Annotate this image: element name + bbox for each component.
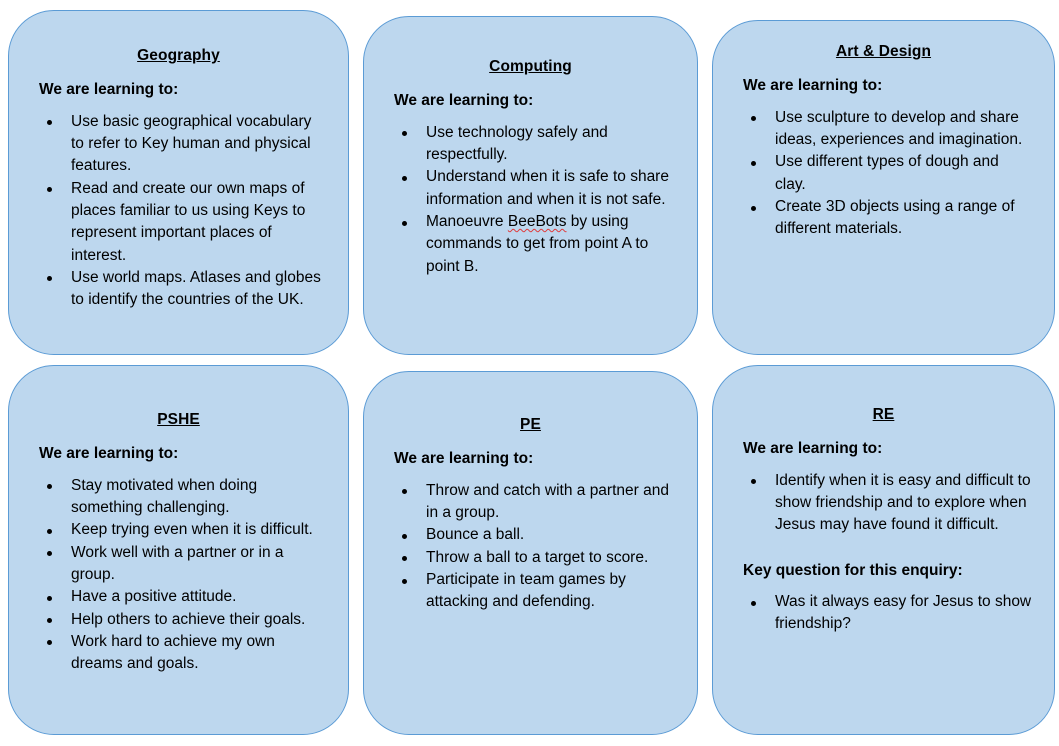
bullet-icon [402, 176, 407, 181]
bullet-icon [751, 479, 756, 484]
list-item-text: Throw a ball to a target to score. [426, 549, 648, 566]
list-item: Use basic geographical vocabulary to ref… [39, 111, 326, 178]
card-content-art-and-design: Art & Design We are learning to: Use scu… [713, 21, 1054, 241]
key-question-points-re: Was it always easy for Jesus to show fri… [735, 591, 1032, 636]
bullet-icon [402, 579, 407, 584]
bullet-icon [47, 618, 52, 623]
card-content-pe: PE We are learning to: Throw and catch w… [364, 372, 697, 614]
subject-card-pshe: PSHE We are learning to: Stay motivated … [8, 365, 349, 735]
subject-card-art-and-design: Art & Design We are learning to: Use scu… [712, 20, 1055, 355]
list-item: Bounce a ball. [394, 524, 675, 546]
card-lead-pshe: We are learning to: [31, 445, 326, 464]
list-item: Identify when it is easy and difficult t… [743, 470, 1032, 537]
list-item: Read and create our own maps of places f… [39, 178, 326, 267]
bullet-icon [402, 534, 407, 539]
card-lead-geography: We are learning to: [31, 81, 326, 100]
list-item: Throw and catch with a partner and in a … [394, 480, 675, 525]
card-content-computing: Computing We are learning to: Use techno… [364, 17, 697, 278]
bullet-icon [402, 131, 407, 136]
card-lead-computing: We are learning to: [386, 92, 675, 111]
card-content-geography: Geography We are learning to: Use basic … [9, 11, 348, 311]
bullet-icon [47, 120, 52, 125]
list-item: Throw a ball to a target to score. [394, 547, 675, 569]
card-title-pe: PE [386, 416, 675, 433]
card-lead-re: We are learning to: [735, 440, 1032, 459]
bullet-icon [47, 596, 52, 601]
card-content-pshe: PSHE We are learning to: Stay motivated … [9, 366, 348, 675]
bullet-icon [402, 556, 407, 561]
learning-points-re: Identify when it is easy and difficult t… [735, 470, 1032, 537]
list-item: Stay motivated when doing something chal… [39, 475, 326, 520]
learning-points-computing: Use technology safely and respectfully. … [386, 122, 675, 278]
list-item-text: Use world maps. Atlases and globes to id… [71, 269, 321, 308]
list-item-text: Use sculpture to develop and share ideas… [775, 109, 1022, 148]
card-title-art-and-design: Art & Design [735, 43, 1032, 60]
list-item-text: Help others to achieve their goals. [71, 611, 305, 628]
list-item-text: Bounce a ball. [426, 526, 524, 543]
list-item-text: Use basic geographical vocabulary to ref… [71, 113, 311, 175]
bullet-icon [47, 529, 52, 534]
list-item: Help others to achieve their goals. [39, 609, 326, 631]
list-item: Use different types of dough and clay. [743, 151, 1032, 196]
bullet-icon [47, 640, 52, 645]
card-lead-art-and-design: We are learning to: [735, 77, 1032, 96]
card-subhead-re: Key question for this enquiry: [735, 562, 1032, 581]
list-item-text: Stay motivated when doing something chal… [71, 477, 257, 516]
learning-points-pshe: Stay motivated when doing something chal… [31, 475, 326, 676]
list-item: Use sculpture to develop and share ideas… [743, 107, 1032, 152]
list-item-text: Have a positive attitude. [71, 588, 236, 605]
list-item: Understand when it is safe to share info… [394, 166, 675, 211]
list-item: Work well with a partner or in a group. [39, 542, 326, 587]
bullet-icon [47, 551, 52, 556]
learning-points-geography: Use basic geographical vocabulary to ref… [31, 111, 326, 312]
card-lead-pe: We are learning to: [386, 450, 675, 469]
list-item-text: Understand when it is safe to share info… [426, 168, 669, 207]
bullet-icon [751, 116, 756, 121]
list-item: Participate in team games by attacking a… [394, 569, 675, 614]
bullet-icon [47, 187, 52, 192]
bullet-icon [47, 484, 52, 489]
subject-card-computing: Computing We are learning to: Use techno… [363, 16, 698, 355]
list-item-text-with-misspelling: Manoeuvre BeeBots by using commands to g… [426, 213, 648, 275]
list-item-text: Participate in team games by attacking a… [426, 571, 626, 610]
list-item-text: Work well with a partner or in a group. [71, 544, 284, 583]
list-item: Keep trying even when it is difficult. [39, 519, 326, 541]
list-item-text: Was it always easy for Jesus to show fri… [775, 593, 1031, 632]
subject-card-pe: PE We are learning to: Throw and catch w… [363, 371, 698, 735]
subject-card-geography: Geography We are learning to: Use basic … [8, 10, 349, 355]
list-item-text: Use technology safely and respectfully. [426, 124, 608, 163]
list-item-text: Use different types of dough and clay. [775, 153, 999, 192]
bullet-icon [751, 206, 756, 211]
list-item: Have a positive attitude. [39, 586, 326, 608]
learning-points-pe: Throw and catch with a partner and in a … [386, 480, 675, 614]
curriculum-overview-page: Geography We are learning to: Use basic … [0, 0, 1059, 746]
card-title-re: RE [735, 406, 1032, 423]
list-item: Create 3D objects using a range of diffe… [743, 196, 1032, 241]
bullet-icon [751, 161, 756, 166]
card-content-re: RE We are learning to: Identify when it … [713, 366, 1054, 636]
card-title-pshe: PSHE [31, 411, 326, 428]
bullet-icon [47, 276, 52, 281]
list-item: Work hard to achieve my own dreams and g… [39, 631, 326, 676]
list-item: Manoeuvre BeeBots by using commands to g… [394, 211, 675, 278]
subject-card-re: RE We are learning to: Identify when it … [712, 365, 1055, 735]
card-title-geography: Geography [31, 47, 326, 64]
list-item: Use world maps. Atlases and globes to id… [39, 267, 326, 312]
list-item-text: Read and create our own maps of places f… [71, 180, 305, 264]
misspelled-word: BeeBots [508, 213, 567, 230]
list-item-text: Identify when it is easy and difficult t… [775, 472, 1031, 534]
list-item-text: Create 3D objects using a range of diffe… [775, 198, 1015, 237]
card-title-computing: Computing [386, 58, 675, 75]
bullet-icon [751, 601, 756, 606]
list-item-text: Keep trying even when it is difficult. [71, 521, 313, 538]
list-item: Use technology safely and respectfully. [394, 122, 675, 167]
list-item-text: Work hard to achieve my own dreams and g… [71, 633, 275, 672]
list-item: Was it always easy for Jesus to show fri… [743, 591, 1032, 636]
learning-points-art-and-design: Use sculpture to develop and share ideas… [735, 107, 1032, 241]
list-item-text: Throw and catch with a partner and in a … [426, 482, 669, 521]
bullet-icon [402, 221, 407, 226]
bullet-icon [402, 489, 407, 494]
